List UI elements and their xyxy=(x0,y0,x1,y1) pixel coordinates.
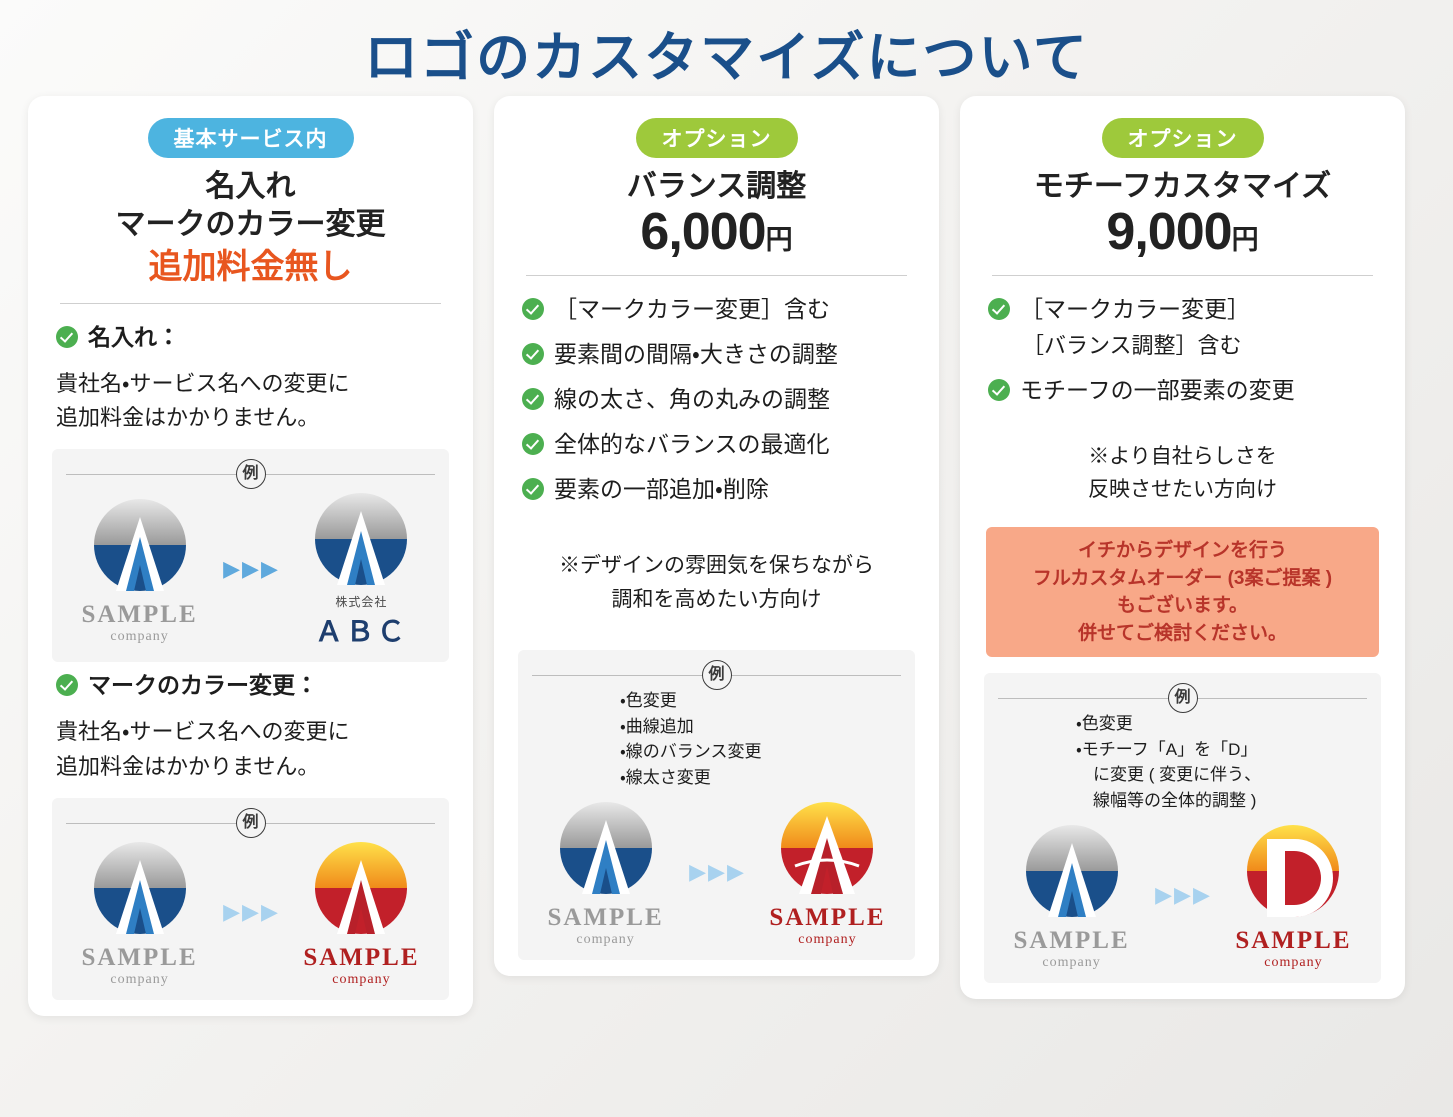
bullet-list: 名入れ： xyxy=(52,322,449,353)
list-item: 線の太さ、角の丸みの調整 xyxy=(522,384,911,415)
logo-mark-red-icon xyxy=(305,836,417,942)
logo-name: SAMPLE xyxy=(998,927,1145,955)
status-badge: オプション xyxy=(636,118,798,158)
badge-row: 基本サービス内 xyxy=(52,118,449,158)
logo-mark-grey-icon xyxy=(550,796,662,902)
bullet-list-2: マークのカラー変更： xyxy=(52,670,449,701)
card-head: バランス調整 6,000円 xyxy=(518,168,915,261)
logo-name: SAMPLE xyxy=(288,944,435,972)
check-icon xyxy=(56,674,78,696)
example-item: ・線太さ変更 xyxy=(620,765,901,791)
arrow-icon: ▶▶▶ xyxy=(223,901,278,923)
card-head-line-1: バランス調整 xyxy=(518,168,915,206)
example-item: ・曲線追加 xyxy=(620,714,901,740)
card-head-line-1: 名入れ xyxy=(52,168,449,206)
list-item-label: ［マークカラー変更］含む xyxy=(554,294,830,325)
example-panel-color: 例 SAMPLE c xyxy=(52,798,449,1000)
logo-mark-motif-d-icon xyxy=(1237,819,1349,925)
card-head: モチーフカスタマイズ 9,000円 xyxy=(984,168,1381,261)
list-item: モチーフの一部要素の変更 xyxy=(988,375,1377,406)
logo-name: SAMPLE xyxy=(66,601,213,629)
check-icon xyxy=(522,433,544,455)
list-item-label: 線の太さ、角の丸みの調整 xyxy=(554,384,830,415)
arrow-icon: ▶▶▶ xyxy=(689,861,744,883)
example-item-list: ・色変更 ・曲線追加 ・線のバランス変更 ・線太さ変更 xyxy=(532,688,901,790)
card-head: 名入れ マークのカラー変更 追加料金無し xyxy=(52,168,449,289)
paragraph-color: 貴社名・サービス名への変更に 追加料金はかかりません。 xyxy=(52,715,449,783)
example-panel-balance: 例 ・色変更 ・曲線追加 ・線のバランス変更 ・線太さ変更 xyxy=(518,650,915,960)
list-item-sublabel: ［バランス調整］含む xyxy=(988,329,1377,363)
logo-sample-grey: SAMPLE company xyxy=(66,836,213,988)
card-price: 6,000円 xyxy=(518,204,915,261)
divider xyxy=(526,275,907,276)
logo-company-prefix: 株式会社 xyxy=(288,593,435,610)
check-icon xyxy=(522,343,544,365)
card-motif-customize: オプション モチーフカスタマイズ 9,000円 ［マークカラー変更］ ［バランス… xyxy=(960,96,1405,999)
logo-mark-navy-icon xyxy=(305,487,417,593)
list-item: 要素の一部追加・削除 xyxy=(522,474,911,505)
logo-sub: company xyxy=(532,932,679,948)
list-item-label: マークのカラー変更： xyxy=(88,670,318,701)
logo-sample-grey: SAMPLE company xyxy=(532,796,679,948)
list-item: ［マークカラー変更］ xyxy=(988,294,1377,325)
logo-sample-red-adjusted: SAMPLE company xyxy=(754,796,901,948)
logo-company-name: ＡＢＣ xyxy=(288,610,435,650)
example-row: SAMPLE company ▶▶▶ xyxy=(532,796,901,948)
example-item: 線幅等の全体的調整 ) xyxy=(1076,788,1367,814)
bullet-list: ［マークカラー変更］含む 要素間の間隔・大きさの調整 線の太さ、角の丸みの調整 … xyxy=(518,294,915,505)
status-badge: 基本サービス内 xyxy=(148,118,354,158)
example-item: ・色変更 xyxy=(1076,711,1367,737)
check-icon xyxy=(522,388,544,410)
price-value: 6,000 xyxy=(640,203,765,261)
price-value: 9,000 xyxy=(1106,203,1231,261)
example-item: に変更 ( 変更に伴う、 xyxy=(1076,762,1367,788)
logo-sub: company xyxy=(754,932,901,948)
example-label: 例 xyxy=(236,808,266,838)
page-title: ロゴのカスタマイズについて xyxy=(0,0,1453,96)
bullet-list: ［マークカラー変更］ ［バランス調整］含む モチーフの一部要素の変更 xyxy=(984,294,1381,406)
card-free-label: 追加料金無し xyxy=(52,245,449,289)
logo-abc-navy: 株式会社 ＡＢＣ xyxy=(288,487,435,650)
logo-name: SAMPLE xyxy=(532,904,679,932)
arrow-icon: ▶▶▶ xyxy=(223,558,278,580)
card-note: ※デザインの雰囲気を保ちながら 調和を高めたい方向け xyxy=(518,549,915,616)
logo-sub: company xyxy=(288,972,435,988)
logo-sample-grey: SAMPLE company xyxy=(998,819,1145,971)
example-item: ・線のバランス変更 xyxy=(620,739,901,765)
badge-row: オプション xyxy=(984,118,1381,158)
card-basic-service: 基本サービス内 名入れ マークのカラー変更 追加料金無し 名入れ： 貴社名・サー… xyxy=(28,96,473,1016)
price-unit: 円 xyxy=(1232,225,1259,255)
logo-sub: company xyxy=(998,955,1145,971)
logo-name: SAMPLE xyxy=(66,944,213,972)
example-row: SAMPLE company ▶▶▶ xyxy=(66,836,435,988)
arrow-icon: ▶▶▶ xyxy=(1155,884,1210,906)
full-custom-order-callout: イチからデザインを行う フルカスタムオーダー (3案ご提案 ) もございます。 … xyxy=(986,527,1379,657)
list-item: マークのカラー変更： xyxy=(56,670,445,701)
divider xyxy=(992,275,1373,276)
list-item-label: 全体的なバランスの最適化 xyxy=(554,429,830,460)
example-panel-motif: 例 ・色変更 ・モチーフ「A」を「D」 に変更 ( 変更に伴う、 線幅等の全体的… xyxy=(984,673,1381,983)
list-item: 全体的なバランスの最適化 xyxy=(522,429,911,460)
list-item-label: 名入れ： xyxy=(88,322,180,353)
logo-name: SAMPLE xyxy=(1220,927,1367,955)
example-item-list: ・色変更 ・モチーフ「A」を「D」 に変更 ( 変更に伴う、 線幅等の全体的調整… xyxy=(998,711,1367,813)
logo-sample-red: SAMPLE company xyxy=(288,836,435,988)
badge-row: オプション xyxy=(518,118,915,158)
check-icon xyxy=(56,326,78,348)
logo-mark-grey-icon xyxy=(84,836,196,942)
list-item-label: 要素間の間隔・大きさの調整 xyxy=(554,339,838,370)
example-label: 例 xyxy=(1168,683,1198,713)
logo-sub: company xyxy=(66,972,213,988)
example-item: ・モチーフ「A」を「D」 xyxy=(1076,737,1367,763)
card-note: ※より自社らしさを 反映させたい方向け xyxy=(984,440,1381,507)
check-icon xyxy=(522,298,544,320)
divider xyxy=(60,303,441,304)
list-item-label: モチーフの一部要素の変更 xyxy=(1020,375,1295,406)
card-head-line-2: マークのカラー変更 xyxy=(52,206,449,244)
status-badge: オプション xyxy=(1102,118,1264,158)
card-head-line-1: モチーフカスタマイズ xyxy=(984,168,1381,206)
example-panel-naming: 例 SAMPLE c xyxy=(52,449,449,662)
cards-container: 基本サービス内 名入れ マークのカラー変更 追加料金無し 名入れ： 貴社名・サー… xyxy=(0,96,1453,1016)
logo-sub: company xyxy=(66,629,213,645)
card-balance-adjust: オプション バランス調整 6,000円 ［マークカラー変更］含む 要素間の間隔・… xyxy=(494,96,939,976)
logo-sample-grey: SAMPLE company xyxy=(66,493,213,645)
example-item: ・色変更 xyxy=(620,688,901,714)
check-icon xyxy=(522,478,544,500)
paragraph-naming: 貴社名・サービス名への変更に 追加料金はかかりません。 xyxy=(52,367,449,435)
check-icon xyxy=(988,379,1010,401)
logo-name: SAMPLE xyxy=(754,904,901,932)
price-unit: 円 xyxy=(766,225,793,255)
example-label: 例 xyxy=(236,459,266,489)
example-row: SAMPLE company ▶▶▶ xyxy=(66,487,435,650)
list-item-label: ［マークカラー変更］ xyxy=(1020,294,1250,325)
list-item: 名入れ： xyxy=(56,322,445,353)
example-label: 例 xyxy=(702,660,732,690)
logo-mark-grey-icon xyxy=(84,493,196,599)
logo-sample-motif-d: SAMPLE company xyxy=(1220,819,1367,971)
list-item: ［マークカラー変更］含む xyxy=(522,294,911,325)
logo-sub: company xyxy=(1220,955,1367,971)
card-price: 9,000円 xyxy=(984,204,1381,261)
logo-mark-grey-icon xyxy=(1016,819,1128,925)
list-item-label: 要素の一部追加・削除 xyxy=(554,474,769,505)
check-icon xyxy=(988,298,1010,320)
example-row: SAMPLE company ▶▶▶ xyxy=(998,819,1367,971)
logo-mark-red-adjusted-icon xyxy=(771,796,883,902)
list-item: 要素間の間隔・大きさの調整 xyxy=(522,339,911,370)
